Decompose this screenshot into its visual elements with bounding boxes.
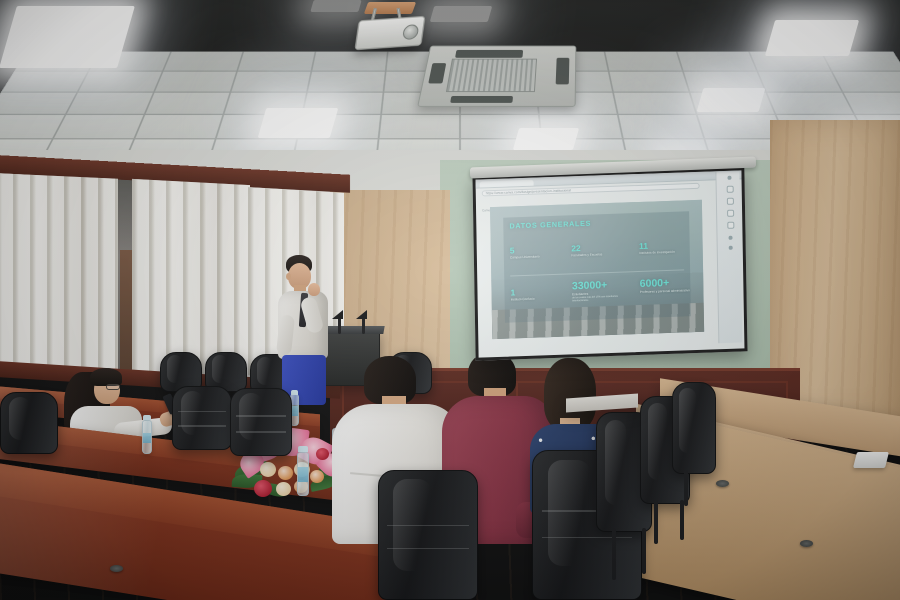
chair-highlight xyxy=(679,388,696,453)
conference-room-photo: https://www.canva.com/design/presentacio… xyxy=(0,0,900,600)
stat-1-number: 5 xyxy=(510,244,565,254)
stat-3-number: 11 xyxy=(639,239,698,249)
chair-row-mid-2[interactable] xyxy=(230,388,292,456)
projection-screen: https://www.canva.com/design/presentacio… xyxy=(472,167,747,360)
bottle-cap-2 xyxy=(291,390,298,395)
water-bottle-1[interactable] xyxy=(142,420,152,454)
chair-backrest xyxy=(172,386,232,450)
ceiling-tile xyxy=(311,51,387,71)
presenter-hand xyxy=(308,283,320,296)
chair-right-2-leg-2 xyxy=(680,500,684,540)
browser-tab[interactable] xyxy=(480,179,534,187)
water-bottle-3[interactable] xyxy=(297,452,309,496)
present-icon[interactable] xyxy=(727,210,734,217)
window-view xyxy=(120,250,132,370)
chair-highlight xyxy=(9,397,31,440)
chair-highlight xyxy=(212,355,228,382)
chair-seam xyxy=(178,411,227,413)
ceiling-tile xyxy=(53,115,144,139)
table-grommet-right-2 xyxy=(716,480,729,487)
ceiling-tile xyxy=(609,71,690,92)
projector-lens xyxy=(402,24,419,40)
rose-flower-5 xyxy=(254,480,272,497)
curtain-panel-2 xyxy=(132,179,250,381)
chair-backrest xyxy=(0,392,58,454)
bottle-cap-3 xyxy=(298,446,308,452)
zoom-icon[interactable] xyxy=(729,246,733,250)
ceiling-tile xyxy=(832,71,900,92)
bottle-cap-1 xyxy=(143,415,151,420)
rose-flower-6 xyxy=(316,448,329,460)
ceiling-light-3 xyxy=(513,128,579,150)
rose-flower-2 xyxy=(278,466,293,480)
chair-backrest xyxy=(672,382,716,474)
chair-seam xyxy=(236,431,286,433)
ceiling-tile xyxy=(163,51,244,71)
chair-right-2-leg xyxy=(654,500,658,544)
ceiling-tile xyxy=(604,51,682,71)
ceiling-tile xyxy=(154,71,237,92)
more-options-icon[interactable] xyxy=(729,236,733,240)
rose-flower-4 xyxy=(310,470,324,483)
chair-front-1[interactable] xyxy=(378,470,478,600)
ceiling-tile xyxy=(766,92,854,114)
ceiling-light-8 xyxy=(430,6,493,22)
curtain-panel-1 xyxy=(0,173,118,377)
ceiling-tile xyxy=(757,71,842,92)
presenter xyxy=(268,255,338,405)
ceiling-tile xyxy=(230,71,311,92)
bottle-label xyxy=(291,406,298,416)
ceiling-projector xyxy=(354,16,425,51)
air-conditioner-unit xyxy=(417,46,576,107)
chair-seam xyxy=(387,525,469,527)
ceiling-tile xyxy=(237,51,315,71)
ac-vent-bottom xyxy=(450,96,513,103)
stat-5-number: 33000+ xyxy=(572,279,632,292)
settings-icon[interactable] xyxy=(727,222,734,229)
ac-vent-left xyxy=(428,63,446,83)
ac-vent-top xyxy=(455,50,523,58)
ceiling-tile xyxy=(144,92,230,114)
attendee-1-glasses xyxy=(106,384,120,390)
presenter-ear xyxy=(286,273,291,280)
ceiling-light-9 xyxy=(310,0,361,12)
ceiling-tile xyxy=(66,92,154,114)
slide-stat-2: 22 Facultades y Escuelas xyxy=(571,242,631,258)
chair-seam xyxy=(178,425,227,427)
chair-right-3[interactable] xyxy=(672,382,716,474)
slide-stat-1: 5 Campus Universitario xyxy=(510,244,565,260)
chair-backrest xyxy=(378,470,478,600)
chair-right-1-leg xyxy=(612,528,616,580)
ceiling-light-6 xyxy=(765,20,859,56)
ceiling-tile xyxy=(618,115,704,139)
table-grommet-right-1 xyxy=(800,540,813,547)
chair-highlight xyxy=(181,391,204,436)
rose-flower-7 xyxy=(276,482,291,496)
ceiling-tile xyxy=(0,92,77,114)
ceiling-tile xyxy=(307,71,386,92)
chair-highlight xyxy=(605,420,627,505)
slide-stat-3: 11 Institutos de Investigación xyxy=(639,239,699,255)
chair-right-3-leg xyxy=(684,470,688,506)
chair-right-1-leg-2 xyxy=(642,528,646,574)
comment-icon[interactable] xyxy=(727,198,734,205)
avatar-icon xyxy=(727,176,731,180)
bottle-label xyxy=(298,467,308,481)
ceiling-tile xyxy=(77,71,162,92)
rose-flower-1 xyxy=(260,462,276,477)
table-grommet-front xyxy=(110,565,123,572)
ceiling-light-2 xyxy=(258,108,339,138)
chair-seam xyxy=(387,548,469,550)
chair-seam xyxy=(542,537,633,539)
white-box-on-table xyxy=(853,452,889,468)
stat-2-number: 22 xyxy=(571,242,630,252)
stat-4-number: 1 xyxy=(511,286,566,296)
ac-vent-right xyxy=(556,58,570,85)
ceiling-tile xyxy=(677,51,758,71)
presentation-slide: DATOS GENERALES 5 Campus Universitario 2… xyxy=(490,200,704,339)
slide-stat-5: 33000+ Estudiantes de los cuales más del… xyxy=(572,279,632,303)
chair-row-mid-1[interactable] xyxy=(172,386,232,450)
slide-stat-6: 6000+ Profesores y personal administrati… xyxy=(640,276,700,294)
ceiling-tile xyxy=(1,71,89,92)
chair-backrest xyxy=(230,388,292,456)
ac-filter-grille xyxy=(446,59,537,92)
chair-seam xyxy=(236,415,286,417)
ceiling-tile xyxy=(134,115,223,139)
share-icon[interactable] xyxy=(727,186,734,193)
ceiling-tile xyxy=(613,92,697,114)
bottle-label xyxy=(143,433,151,444)
chair-row-mid-3[interactable] xyxy=(0,392,58,454)
canva-tool-sidebar[interactable] xyxy=(715,171,742,343)
slide-stat-4: 1 Instituto Confucio xyxy=(511,286,566,302)
ceiling-tile xyxy=(379,115,460,139)
browser-url-text: https://www.canva.com/design/presentacio… xyxy=(486,188,571,195)
ceiling-light-5 xyxy=(697,88,766,112)
stat-6-number: 6000+ xyxy=(640,276,700,289)
chair-highlight xyxy=(548,460,591,567)
chair-highlight xyxy=(648,403,667,479)
ceiling-light-1 xyxy=(0,6,135,68)
